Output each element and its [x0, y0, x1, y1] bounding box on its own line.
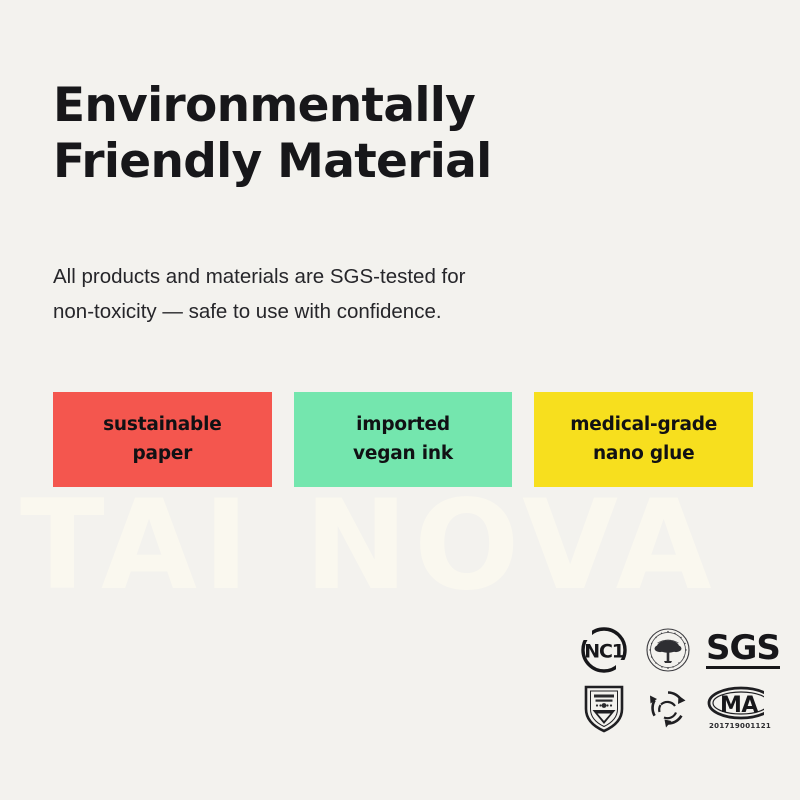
material-chip-line-2: paper	[133, 440, 193, 468]
material-chip-imported-vegan-ink: imported vegan ink	[294, 392, 513, 487]
material-chip-line-1: sustainable	[103, 411, 221, 439]
material-chip-line-1: imported	[356, 411, 450, 439]
page-subtitle-line-1: All products and materials are SGS-teste…	[53, 259, 653, 294]
brand-watermark: TAI NOVA	[20, 486, 800, 606]
material-chip-row: sustainable paper imported vegan ink med…	[53, 392, 753, 487]
nc1-circle-icon: NC1	[580, 626, 628, 674]
ma-certificate-number: 201719001121	[709, 722, 771, 730]
forest-stewardship-seal	[642, 624, 694, 676]
nc1-mark: NC1	[578, 624, 630, 676]
ma-oval-icon: MA	[706, 686, 776, 720]
ma-mark: MA 201719001121	[706, 680, 780, 736]
quality-shield-badge	[578, 680, 630, 736]
certification-badge-grid: NC1	[578, 624, 788, 736]
sgs-wordmark-icon: SGS	[706, 631, 780, 669]
material-chip-medical-grade-nano-glue: medical-grade nano glue	[534, 392, 753, 487]
material-chip-line-1: medical-grade	[570, 411, 717, 439]
page-title: Environmentally Friendly Material	[53, 78, 693, 189]
tree-seal-icon	[645, 627, 691, 673]
shield-chevron-icon	[583, 683, 625, 733]
material-chip-line-2: vegan ink	[353, 440, 453, 468]
recycle-arrows-icon	[645, 685, 691, 731]
material-chip-sustainable-paper: sustainable paper	[53, 392, 272, 487]
page-title-line-2: Friendly Material	[53, 134, 693, 189]
sgs-mark: SGS	[706, 624, 780, 676]
svg-text:MA: MA	[720, 693, 758, 718]
page-title-line-1: Environmentally	[53, 78, 693, 133]
eco-material-infographic: TAI NOVA Environmentally Friendly Materi…	[0, 0, 800, 800]
material-chip-line-2: nano glue	[593, 440, 694, 468]
page-subtitle-line-2: non-toxicity — safe to use with confiden…	[53, 294, 653, 329]
svg-text:NC1: NC1	[584, 641, 623, 663]
recycling-mark	[642, 680, 694, 736]
page-subtitle: All products and materials are SGS-teste…	[53, 259, 653, 330]
